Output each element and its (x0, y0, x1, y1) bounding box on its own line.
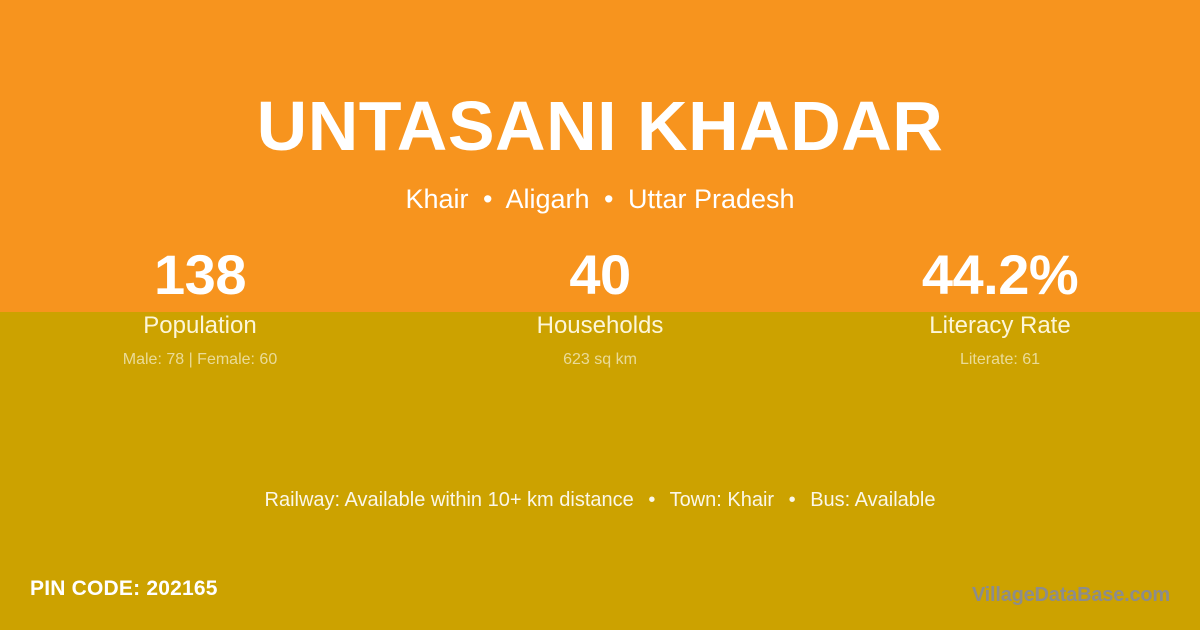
bullet-separator-icon: • (597, 183, 620, 215)
bullet-separator-icon: • (639, 487, 664, 513)
infrastructure-bus: Bus: Available (810, 489, 935, 511)
breadcrumb-block: Khair (405, 184, 468, 214)
stat-value: 40 (400, 243, 800, 307)
infrastructure-railway: Railway: Available within 10+ km distanc… (265, 489, 634, 511)
location-breadcrumb: Khair • Aligarh • Uttar Pradesh (0, 183, 1200, 215)
stat-literacy-rate: 44.2% Literacy Rate Literate: 61 (800, 243, 1200, 369)
infrastructure-town: Town: Khair (670, 489, 775, 511)
stat-value: 138 (0, 243, 400, 307)
infrastructure-line: Railway: Available within 10+ km distanc… (0, 487, 1200, 513)
stat-label: Literacy Rate (800, 312, 1200, 340)
site-watermark: VillageDataBase.com (972, 583, 1170, 607)
stat-sublabel: Male: 78 | Female: 60 (0, 350, 400, 369)
stat-sublabel: 623 sq km (400, 350, 800, 369)
stat-label: Population (0, 312, 400, 340)
pin-code: PIN CODE: 202165 (30, 576, 218, 602)
stat-population: 138 Population Male: 78 | Female: 60 (0, 243, 400, 369)
stat-households: 40 Households 623 sq km (400, 243, 800, 369)
stat-label: Households (400, 312, 800, 340)
village-info-card: UNTASANI KHADAR Khair • Aligarh • Uttar … (0, 0, 1200, 630)
bullet-separator-icon: • (780, 487, 805, 513)
breadcrumb-state: Uttar Pradesh (628, 184, 795, 214)
breadcrumb-district: Aligarh (505, 184, 589, 214)
page-title: UNTASANI KHADAR (0, 84, 1200, 168)
stat-value: 44.2% (800, 243, 1200, 307)
stats-row: 138 Population Male: 78 | Female: 60 40 … (0, 243, 1200, 369)
stat-sublabel: Literate: 61 (800, 350, 1200, 369)
bullet-separator-icon: • (476, 183, 499, 215)
